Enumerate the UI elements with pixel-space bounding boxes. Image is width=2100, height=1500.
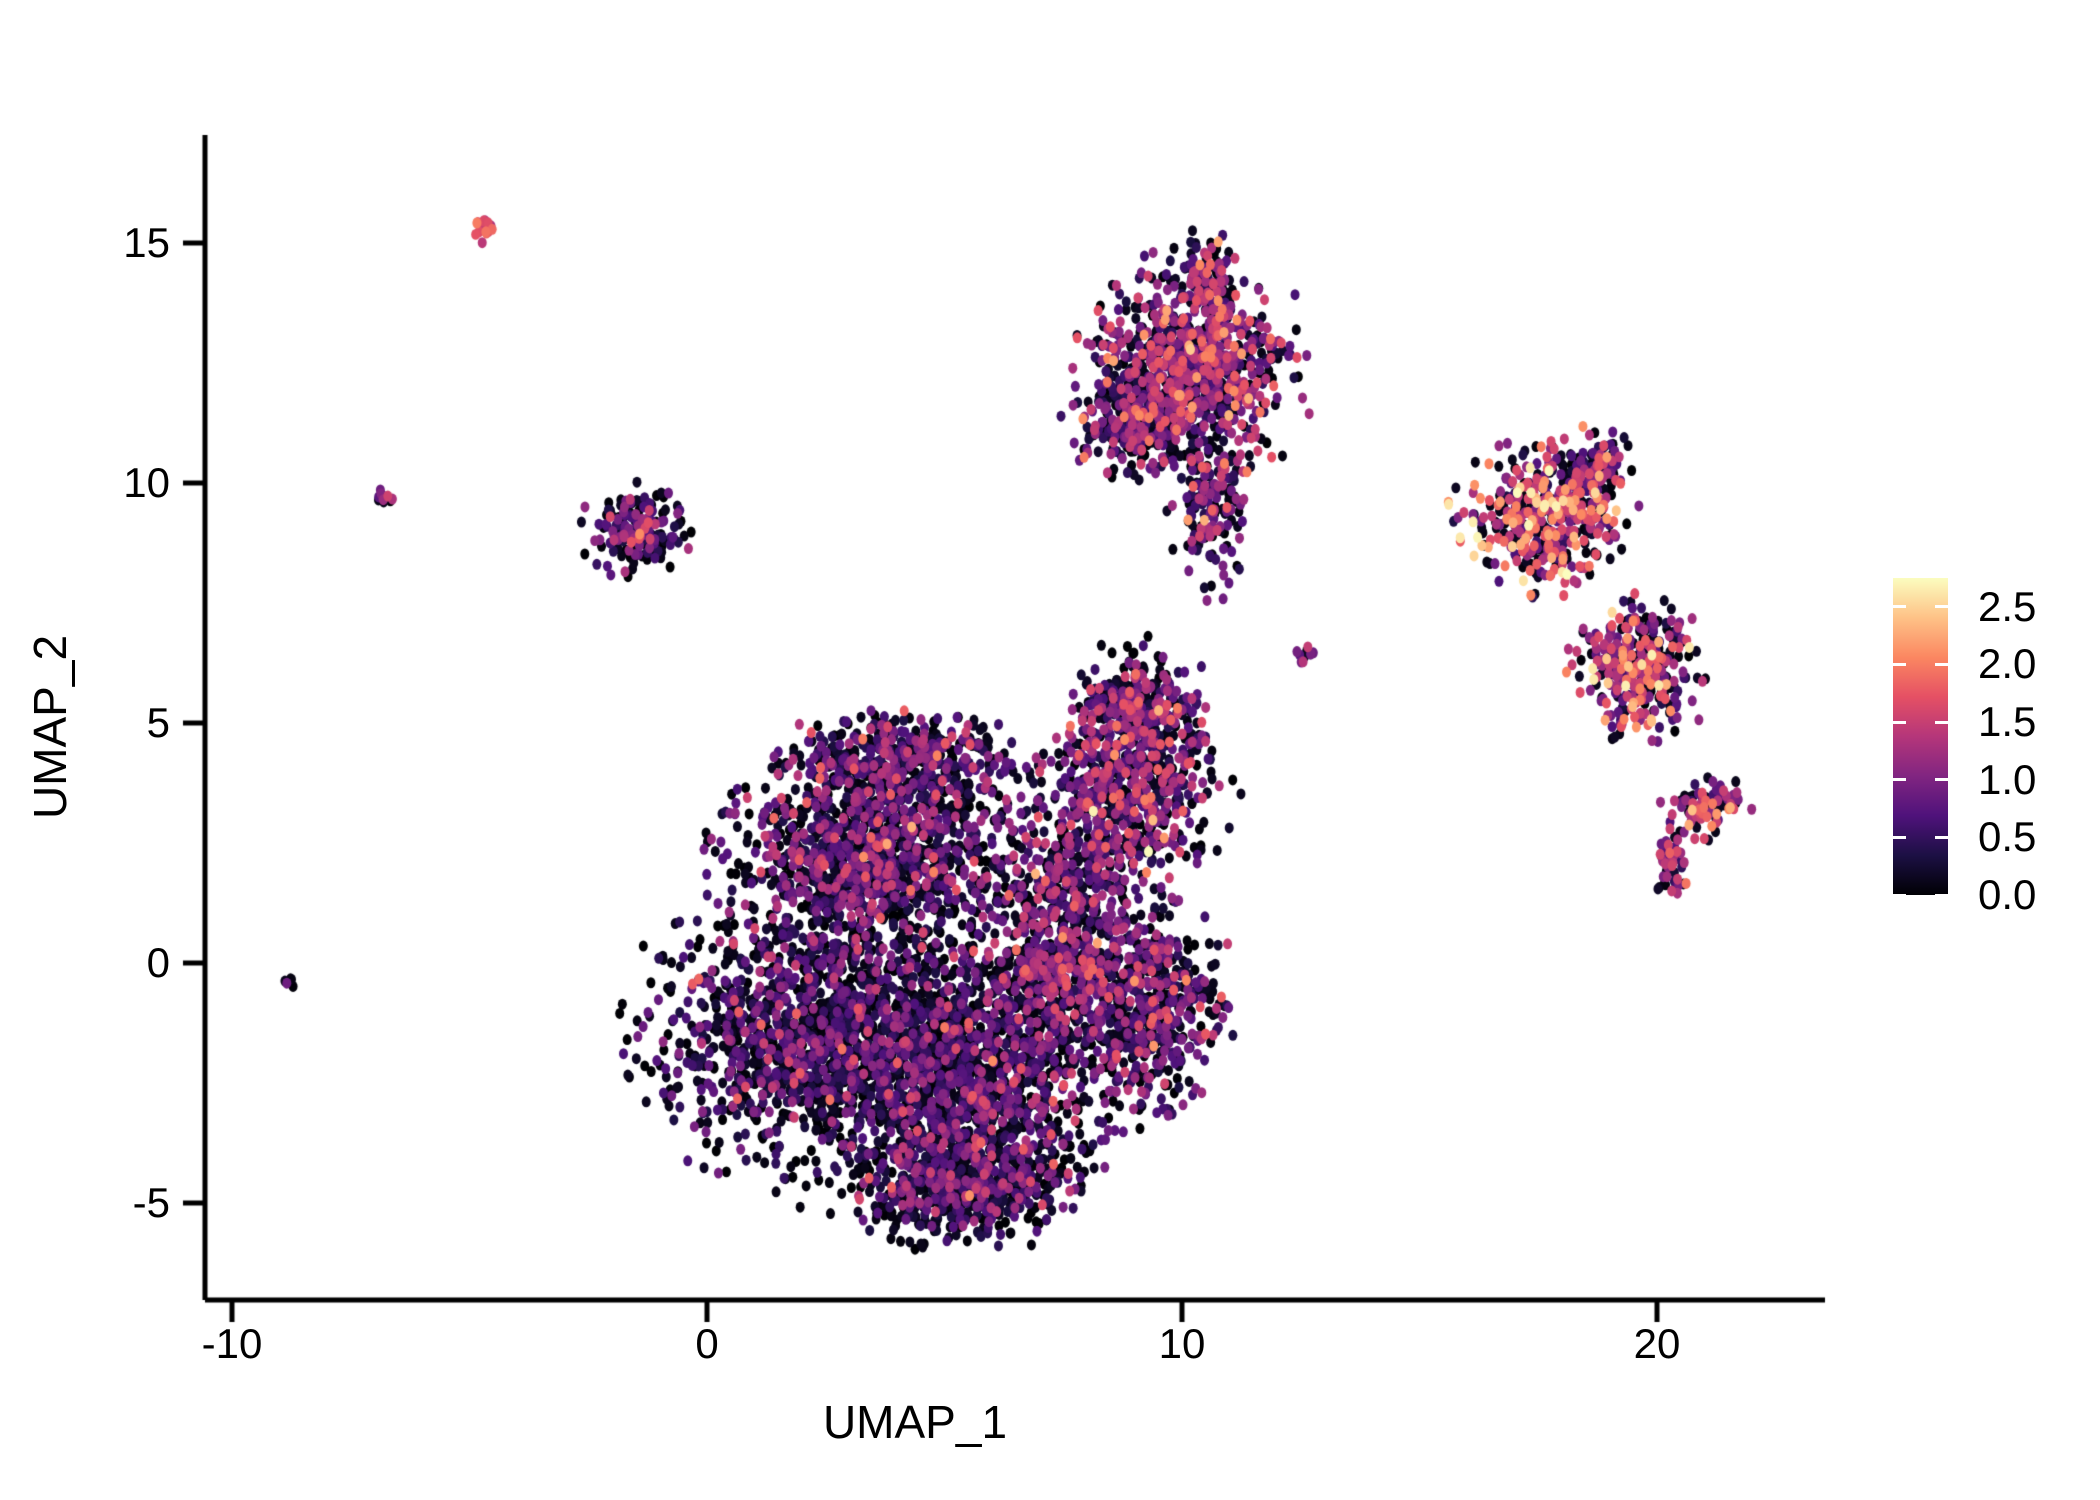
colorbar-gradient bbox=[1893, 578, 1948, 895]
x-axis-title: UMAP_1 bbox=[0, 1395, 1830, 1449]
y-tick-label: -5 bbox=[5, 1179, 170, 1227]
y-tick-label: 5 bbox=[5, 699, 170, 747]
colorbar-tick-label: 1.0 bbox=[1978, 756, 2036, 804]
chart-page: RASSF1 UMAP_1 UMAP_2 -1001020 -5051015 0… bbox=[0, 0, 2100, 1500]
colorbar-tick-label: 0.5 bbox=[1978, 813, 2036, 861]
x-tick-label: -10 bbox=[202, 1320, 263, 1368]
colorbar-tick-label: 2.0 bbox=[1978, 640, 2036, 688]
colorbar-tick-label: 0.0 bbox=[1978, 871, 2036, 919]
x-tick-label: 10 bbox=[1159, 1320, 1206, 1368]
colorbar-tick-label: 2.5 bbox=[1978, 583, 2036, 631]
x-tick-label: 0 bbox=[695, 1320, 718, 1368]
x-tick-label: 20 bbox=[1634, 1320, 1681, 1368]
colorbar-tick-label: 1.5 bbox=[1978, 698, 2036, 746]
umap-scatter-canvas bbox=[0, 0, 2100, 1500]
y-tick-label: 0 bbox=[5, 939, 170, 987]
y-tick-label: 10 bbox=[5, 459, 170, 507]
y-tick-label: 15 bbox=[5, 219, 170, 267]
